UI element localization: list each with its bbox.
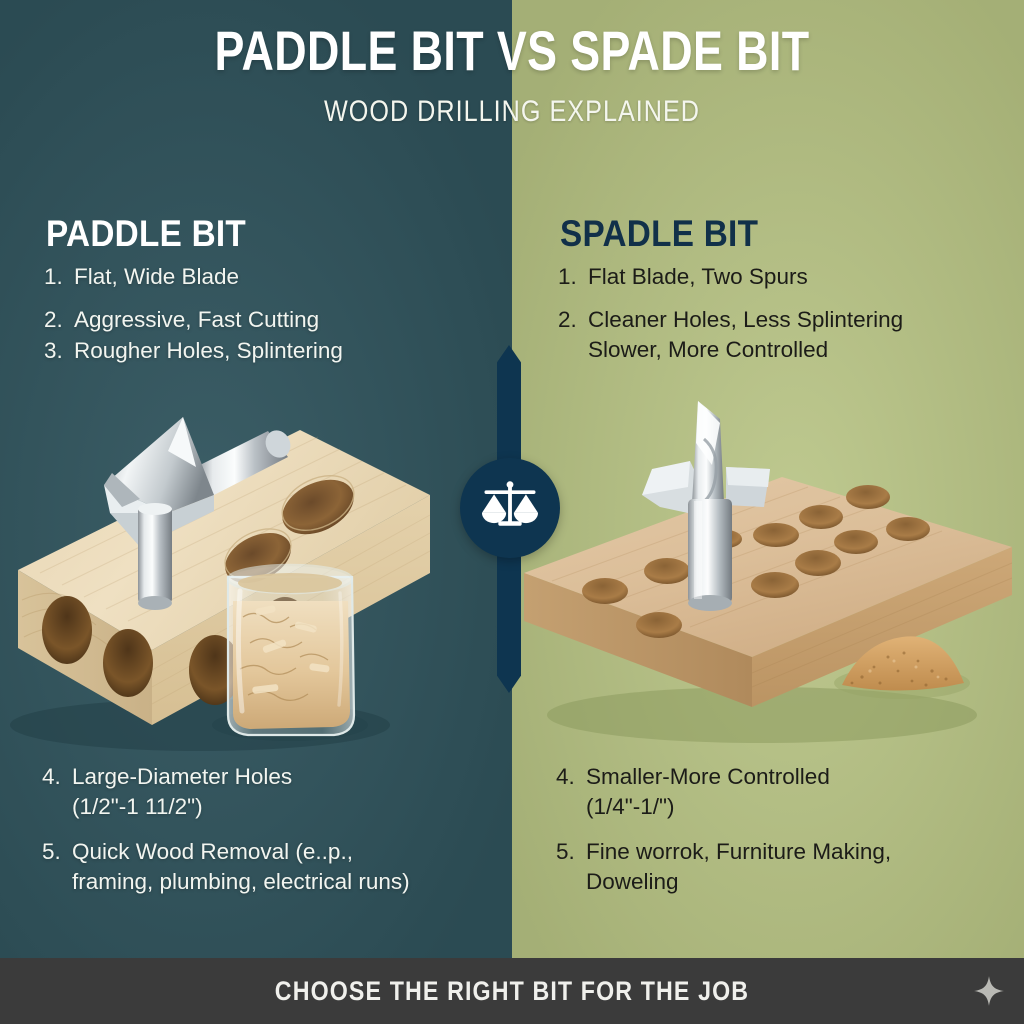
balance-scales-icon [476, 474, 544, 542]
balance-scales-badge [460, 458, 560, 558]
list-item-number: 1. [558, 262, 588, 292]
infographic-canvas: PADDLE BIT VS SPADE BIT WOOD DRILLING EX… [0, 0, 1024, 1024]
list-item-label: Flat, Wide Blade [74, 262, 474, 292]
list-item: 2. Cleaner Holes, Less Splintering Slowe… [558, 305, 998, 365]
paddle-bit-feature-list-top: 1. Flat, Wide Blade 2. Aggressive, Fast … [44, 262, 474, 366]
list-item: 2. Aggressive, Fast Cutting [44, 305, 474, 335]
column-heading-spade-bit: SPADLE BIT [560, 213, 758, 255]
list-item: 1. Flat, Wide Blade [44, 262, 474, 292]
spade-bit-feature-list-top: 1. Flat Blade, Two Spurs 2. Cleaner Hole… [558, 262, 998, 365]
list-item-label: Cleaner Holes, Less Splintering Slower, … [588, 305, 998, 365]
list-item-number: 2. [558, 305, 588, 335]
list-item: 5. Fine worrok, Furniture Making, Doweli… [556, 837, 1001, 897]
list-item-number: 1. [44, 262, 74, 292]
footer-bar: CHOOSE THE RIGHT BIT FOR THE JOB [0, 958, 1024, 1024]
list-item-label: Large-Diameter Holes (1/2"-1 11/2") [72, 762, 472, 822]
spade-bit-beech-block-photo [512, 395, 1024, 765]
sparkle-icon [972, 974, 1006, 1008]
spade-bit-feature-list-bottom: 4. Smaller-More Controlled (1/4"-1/") 5.… [556, 762, 1001, 897]
list-item-label: Rougher Holes, Splintering [74, 336, 474, 366]
list-item: 5. Quick Wood Removal (e..p., framing, p… [42, 837, 472, 897]
list-item-label: Smaller-More Controlled (1/4"-1/") [586, 762, 1001, 822]
list-item: 4. Smaller-More Controlled (1/4"-1/") [556, 762, 1001, 822]
paddle-bit-pine-block-photo [0, 395, 512, 765]
list-item-number: 3. [44, 336, 74, 366]
list-item-label: Flat Blade, Two Spurs [588, 262, 998, 292]
footer-tagline: CHOOSE THE RIGHT BIT FOR THE JOB [72, 974, 953, 1008]
list-item: 1. Flat Blade, Two Spurs [558, 262, 998, 292]
list-item-number: 5. [556, 837, 586, 867]
list-item-number: 4. [42, 762, 72, 792]
list-item-number: 2. [44, 305, 74, 335]
column-heading-paddle-bit: PADDLE BIT [46, 213, 246, 255]
list-item-label: Fine worrok, Furniture Making, Doweling [586, 837, 1001, 897]
list-item: 4. Large-Diameter Holes (1/2"-1 11/2") [42, 762, 472, 822]
paddle-bit-feature-list-bottom: 4. Large-Diameter Holes (1/2"-1 11/2") 5… [42, 762, 472, 897]
list-item: 3. Rougher Holes, Splintering [44, 336, 474, 366]
list-item-label: Quick Wood Removal (e..p., framing, plum… [72, 837, 472, 897]
list-item-number: 4. [556, 762, 586, 792]
list-item-label: Aggressive, Fast Cutting [74, 305, 474, 335]
list-item-number: 5. [42, 837, 72, 867]
